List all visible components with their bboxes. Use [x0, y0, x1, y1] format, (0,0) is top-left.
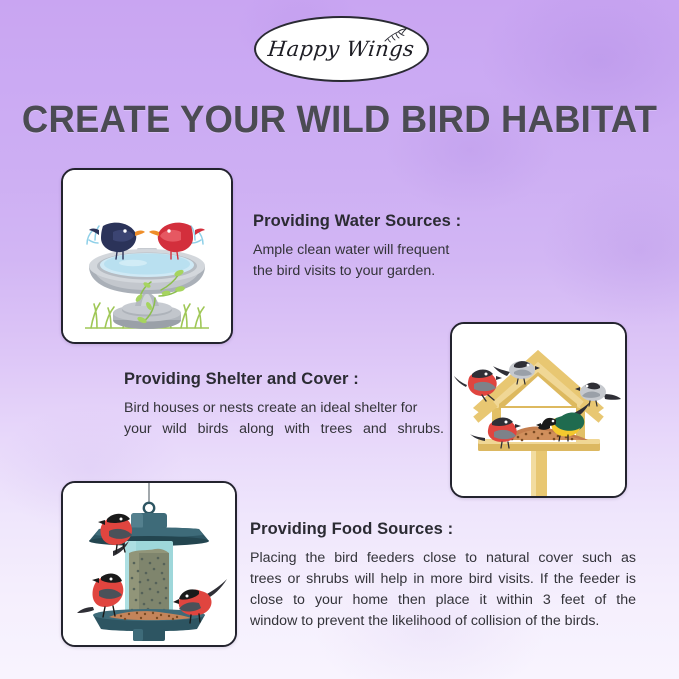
water-text-block: Providing Water Sources : Ample clean wa…: [253, 212, 513, 282]
food-body-line-3: close to your home then place it within …: [250, 590, 636, 611]
poster-root: Happy Wings CREATE YOUR WILD BIRD HABITA…: [0, 0, 679, 679]
food-body-line-1: Placing the bird feeders close to natura…: [250, 548, 636, 569]
food-body: Placing the bird feeders close to natura…: [250, 548, 636, 632]
food-heading: Providing Food Sources :: [250, 520, 636, 539]
page-title: CREATE YOUR WILD BIRD HABITAT: [14, 99, 666, 142]
flying-bird-icon: [383, 24, 409, 44]
food-text-block: Providing Food Sources : Placing the bir…: [250, 520, 636, 632]
bird-house-image-card: [450, 322, 627, 498]
water-body-line-2: the bird visits to your garden.: [253, 263, 435, 279]
food-body-line-4: window to prevent the likelihood of coll…: [250, 611, 636, 632]
bird-house-feeder-illustration: [452, 324, 625, 496]
water-body: Ample clean water will frequent the bird…: [253, 240, 513, 282]
shelter-text-block: Providing Shelter and Cover : Bird house…: [124, 370, 444, 440]
bird-bath-illustration: [63, 170, 231, 342]
bird-bath-image-card: [61, 168, 233, 344]
shelter-body-line-1: Bird houses or nests create an ideal she…: [124, 400, 417, 416]
tube-feeder-image-card: [61, 481, 237, 647]
shelter-body: Bird houses or nests create an ideal she…: [124, 398, 444, 440]
shelter-body-line-2: your wild birds along with trees and shr…: [124, 419, 444, 440]
water-body-line-1: Ample clean water will frequent: [253, 242, 449, 258]
water-heading: Providing Water Sources :: [253, 212, 513, 231]
brand-logo: Happy Wings: [254, 16, 429, 82]
shelter-heading: Providing Shelter and Cover :: [124, 370, 444, 389]
food-body-line-2: trees or shrubs will help in more bird v…: [250, 569, 636, 590]
tube-feeder-illustration: [63, 483, 235, 645]
